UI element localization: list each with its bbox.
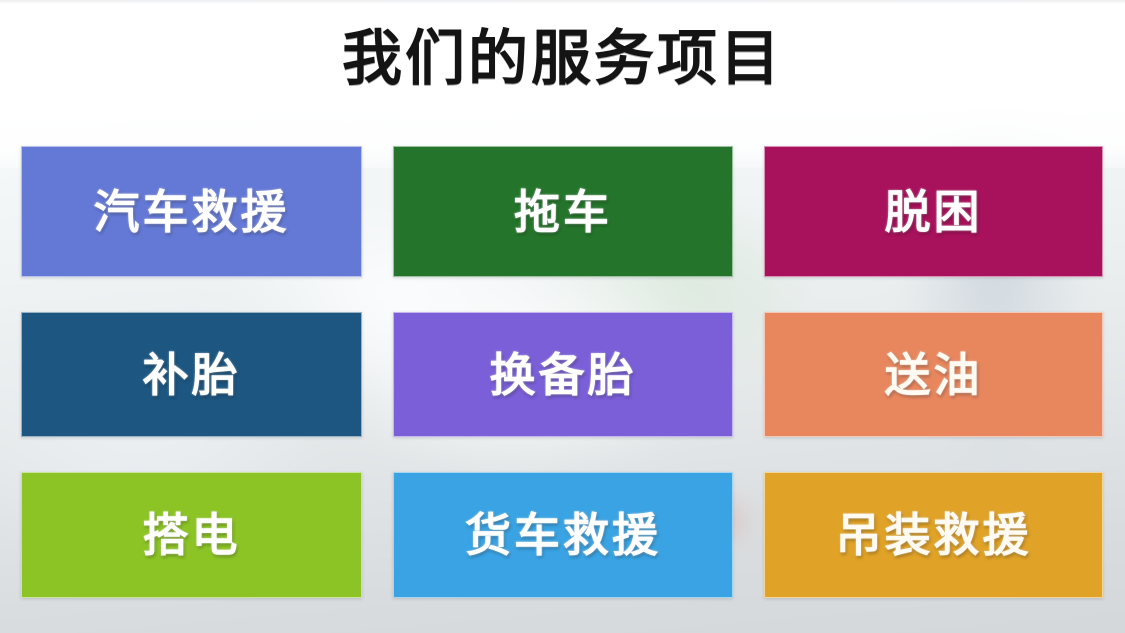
service-tile-fuel-delivery[interactable]: 送油 [764,312,1103,437]
service-tile-tire-repair[interactable]: 补胎 [21,312,362,437]
service-tile-truck-rescue[interactable]: 货车救援 [393,472,733,598]
service-tile-label: 脱困 [885,189,983,235]
service-poster: 我们的服务项目 汽车救援 拖车 脱困 补胎 换备胎 送油 搭电 货车救援 吊装 [0,0,1125,633]
service-tile-grid: 汽车救援 拖车 脱困 补胎 换备胎 送油 搭电 货车救援 吊装救援 [21,146,1103,616]
service-tile-label: 汽车救援 [94,189,290,235]
service-tile-label: 拖车 [514,189,612,235]
service-tile-jump-start[interactable]: 搭电 [21,472,362,598]
service-tile-label: 吊装救援 [836,512,1032,558]
page-title: 我们的服务项目 [0,25,1125,94]
service-tile-car-rescue[interactable]: 汽车救援 [21,146,362,277]
service-tile-towing[interactable]: 拖车 [393,146,733,277]
service-tile-crane-lifting-rescue[interactable]: 吊装救援 [764,472,1103,598]
service-tile-label: 送油 [885,352,983,398]
service-tile-label: 换备胎 [490,352,637,398]
service-tile-spare-tire-change[interactable]: 换备胎 [393,312,733,437]
top-edge-hairline [0,0,1125,4]
service-tile-extrication[interactable]: 脱困 [764,146,1103,277]
service-tile-label: 货车救援 [465,512,661,558]
service-tile-label: 搭电 [143,512,241,558]
service-tile-label: 补胎 [143,352,241,398]
